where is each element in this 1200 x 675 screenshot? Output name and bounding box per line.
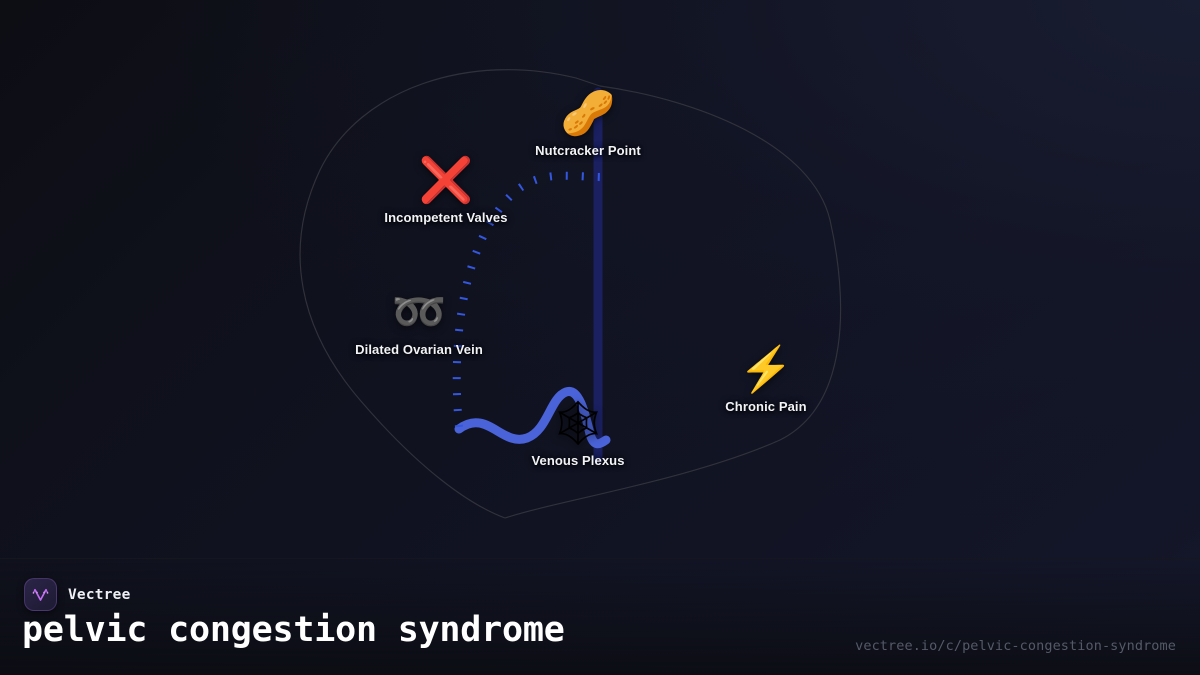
footer-bar: Vectree pelvic congestion syndrome vectr… <box>0 558 1200 675</box>
page-url: vectree.io/c/pelvic-congestion-syndrome <box>855 638 1176 654</box>
page-title: pelvic congestion syndrome <box>22 610 565 650</box>
screenshot-root: 🥜 Nutcracker Point ❌ Incompetent Valves … <box>0 0 1200 675</box>
diagram-node-label: Nutcracker Point <box>535 143 641 158</box>
diagram-node-chronic-pain[interactable]: ⚡ Chronic Pain <box>725 348 806 414</box>
peanut-icon: 🥜 <box>561 92 616 136</box>
brand-name: Vectree <box>68 587 131 603</box>
red-cross-mark-icon: ❌ <box>419 159 474 203</box>
diagram-node-label: Chronic Pain <box>725 399 806 414</box>
vectree-logo-icon <box>24 578 57 611</box>
diagram-canvas[interactable]: 🥜 Nutcracker Point ❌ Incompetent Valves … <box>0 0 1200 558</box>
brand[interactable]: Vectree <box>24 578 131 611</box>
diagram-node-dilated-ovarian-vein[interactable]: ➿ Dilated Ovarian Vein <box>355 291 483 357</box>
diagram-node-nutcracker-point[interactable]: 🥜 Nutcracker Point <box>535 92 641 158</box>
lightning-bolt-icon: ⚡ <box>739 348 794 392</box>
diagram-node-label: Incompetent Valves <box>384 210 507 225</box>
diagram-node-incompetent-valves[interactable]: ❌ Incompetent Valves <box>384 159 507 225</box>
spider-web-icon: 🕸 <box>550 402 606 446</box>
curly-loop-icon: ➿ <box>392 291 447 335</box>
diagram-node-label: Dilated Ovarian Vein <box>355 342 483 357</box>
diagram-node-venous-plexus[interactable]: 🕸 Venous Plexus <box>531 402 624 468</box>
diagram-node-label: Venous Plexus <box>531 453 624 468</box>
diagram-svg <box>0 0 1200 558</box>
